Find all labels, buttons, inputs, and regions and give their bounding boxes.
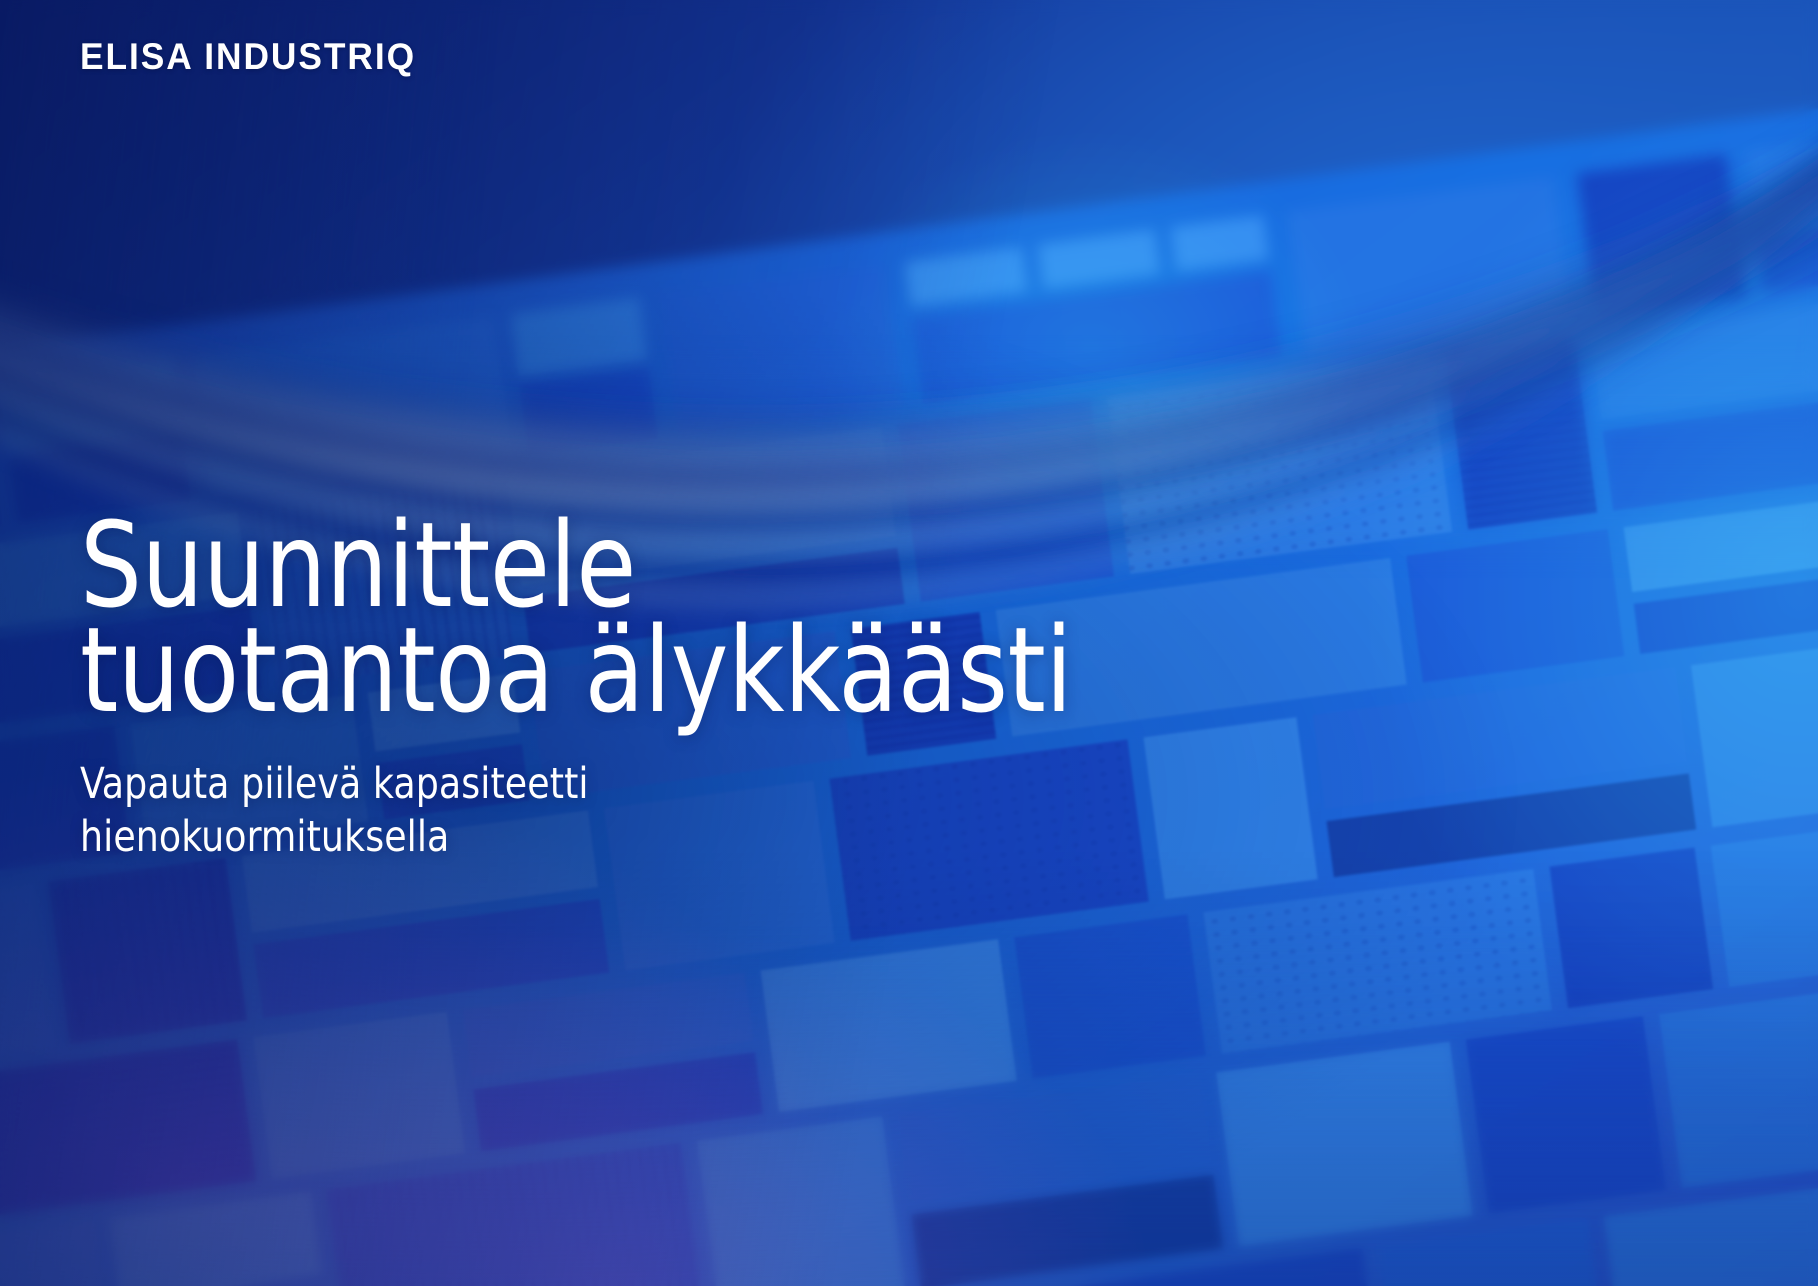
title-slide: ELISA INDUSTRIQ Suunnittele tuotantoa äl… bbox=[0, 0, 1818, 1286]
subhead-line-1: Vapauta piilevä kapasiteetti bbox=[80, 758, 589, 811]
page-title: Suunnittele tuotantoa älykkäästi bbox=[80, 513, 1072, 723]
subhead-line-2: hienokuormituksella bbox=[80, 811, 589, 864]
headline-line-2: tuotantoa älykkäästi bbox=[80, 618, 1072, 723]
elisa-industriq-logo: ELISA INDUSTRIQ bbox=[80, 38, 416, 75]
slide-content: ELISA INDUSTRIQ Suunnittele tuotantoa äl… bbox=[0, 0, 1818, 1286]
page-subtitle: Vapauta piilevä kapasiteetti hienokuormi… bbox=[80, 758, 589, 864]
